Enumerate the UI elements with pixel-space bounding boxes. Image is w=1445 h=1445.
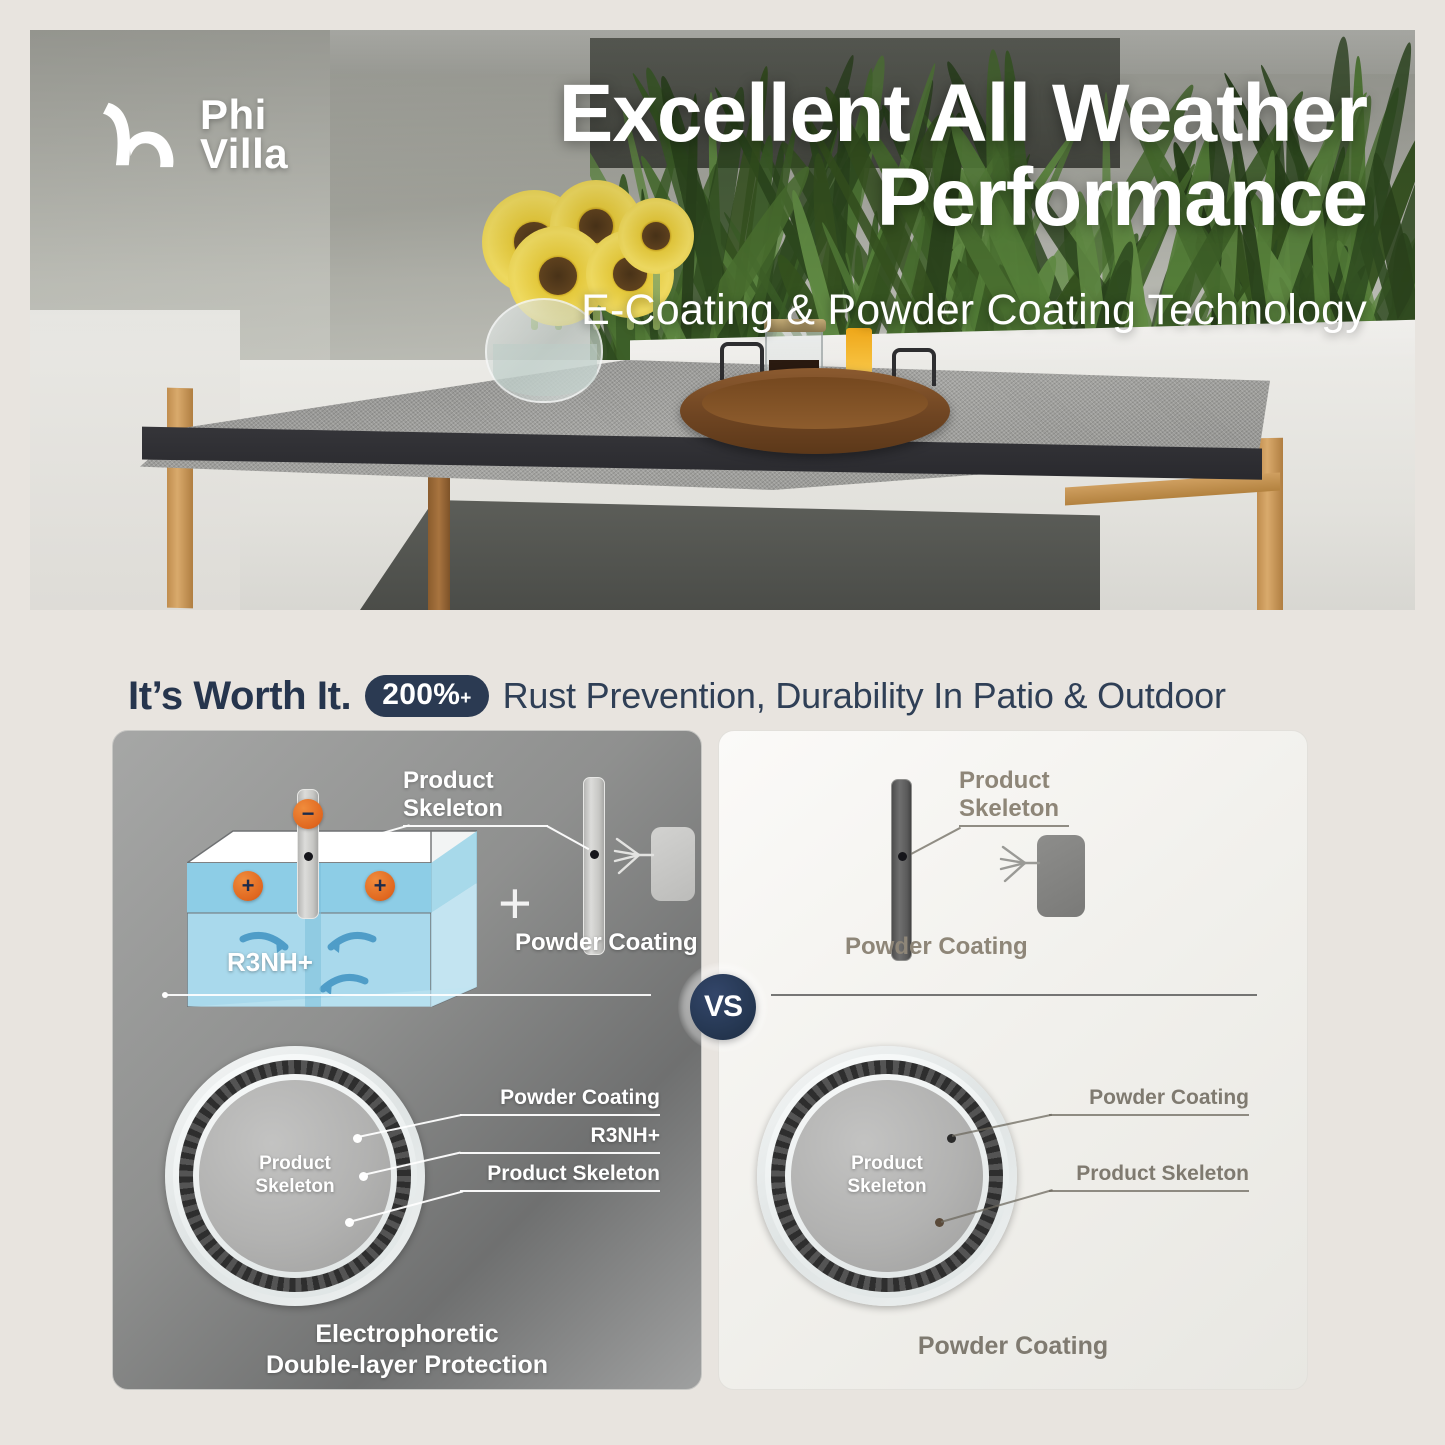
right-skeleton-label: Product Skeleton	[959, 767, 1059, 824]
right-skeleton-label-l2: Skeleton	[959, 795, 1059, 823]
solution-label: R3NH+	[227, 947, 313, 978]
plus-symbol: +	[498, 875, 532, 933]
right-skeleton-leader	[959, 825, 1069, 827]
left-caption-l1: Electrophoretic	[113, 1319, 701, 1350]
left-callout-product-skeleton: Product Skeleton	[410, 1162, 660, 1187]
negative-charge: −	[293, 799, 323, 829]
right-spray-gun-body	[1037, 835, 1085, 917]
hero-title-line-2: Performance	[367, 156, 1367, 240]
left-skeleton-label-l2: Skeleton	[403, 795, 503, 823]
left-callout-r3nh: R3NH+	[440, 1124, 660, 1149]
comparison-panels: + + R3NH+ − Product Skeleton +	[112, 730, 1334, 1390]
percent-badge-sup: +	[460, 688, 471, 710]
brand-logo-text: Phi Villa	[200, 95, 288, 174]
left-panel-caption: Electrophoretic Double-layer Protection	[113, 1319, 701, 1380]
right-xs-center-l1: Product	[851, 1153, 923, 1176]
positive-charge-right: +	[365, 871, 395, 901]
right-spray-nozzle-icon	[999, 843, 1041, 883]
logo-line-2: Villa	[200, 134, 288, 173]
panel-electrophoretic: + + R3NH+ − Product Skeleton +	[112, 730, 702, 1390]
percent-badge-value: 200%	[382, 678, 460, 712]
left-callout-leader-1	[460, 1114, 660, 1116]
tagline-headline: It’s Worth It.	[128, 674, 351, 719]
left-coated-rod-dot	[590, 850, 599, 859]
left-spray-nozzle-icon	[613, 835, 655, 875]
vs-badge: VS	[690, 974, 756, 1040]
left-xs-center-l1: Product	[259, 1153, 331, 1176]
right-callout-leader-1	[1049, 1114, 1249, 1116]
left-callout-leader-2	[460, 1152, 660, 1154]
left-powder-coating-label: Powder Coating	[515, 929, 698, 957]
left-divider-dot	[162, 992, 168, 998]
left-callout-powder-coating: Powder Coating	[440, 1086, 660, 1111]
brand-logo: Phi Villa	[92, 88, 288, 180]
positive-charge-left: +	[233, 871, 263, 901]
right-callout-leader-2	[1049, 1190, 1249, 1192]
rod-contact-dot	[304, 852, 313, 861]
tagline-row: It’s Worth It. 200%+ Rust Prevention, Du…	[128, 668, 1226, 724]
table-leg-front-left	[167, 388, 193, 609]
left-cross-section: Product Skeleton	[165, 1046, 425, 1306]
left-skeleton-leader	[403, 825, 548, 827]
logo-line-1: Phi	[200, 95, 288, 134]
phivilla-hook-logo-icon	[92, 88, 184, 180]
right-cross-section: Product Skeleton	[757, 1046, 1017, 1306]
left-xs-center-l2: Skeleton	[255, 1176, 334, 1199]
electrophoresis-tank: + + R3NH+	[187, 827, 477, 1007]
wooden-tray	[680, 368, 950, 454]
right-xs-center-label: Product Skeleton	[791, 1080, 983, 1272]
right-callout-product-skeleton: Product Skeleton	[1009, 1162, 1249, 1187]
hero-title-line-1: Excellent All Weather	[367, 72, 1367, 156]
left-spray-gun-body	[651, 827, 695, 901]
left-skeleton-label-l1: Product	[403, 767, 503, 795]
hero-title: Excellent All Weather Performance	[367, 72, 1367, 241]
panel-powder-coating: Product Skeleton Powder Coating Produc	[718, 730, 1308, 1390]
tray-inner-surface	[702, 377, 928, 429]
left-callout-leader-3	[460, 1190, 660, 1192]
left-skeleton-label: Product Skeleton	[403, 767, 503, 824]
tagline-description: Rust Prevention, Durability In Patio & O…	[503, 675, 1226, 717]
hero-banner: /*placeholder*/	[30, 30, 1415, 610]
right-panel-divider	[771, 994, 1257, 996]
left-caption-l2: Double-layer Protection	[113, 1350, 701, 1381]
right-panel-caption: Powder Coating	[719, 1331, 1307, 1362]
percent-badge: 200%+	[365, 675, 488, 717]
hero-subtitle: E-Coating & Powder Coating Technology	[317, 286, 1367, 335]
left-panel-divider	[165, 994, 651, 996]
right-powder-coating-label: Powder Coating	[845, 933, 1028, 961]
right-skeleton-leader-diagonal	[911, 827, 961, 855]
right-skeleton-label-l1: Product	[959, 767, 1059, 795]
right-xs-center-l2: Skeleton	[847, 1176, 926, 1199]
right-callout-powder-coating: Powder Coating	[1019, 1086, 1249, 1111]
right-rod-contact-dot	[898, 852, 907, 861]
